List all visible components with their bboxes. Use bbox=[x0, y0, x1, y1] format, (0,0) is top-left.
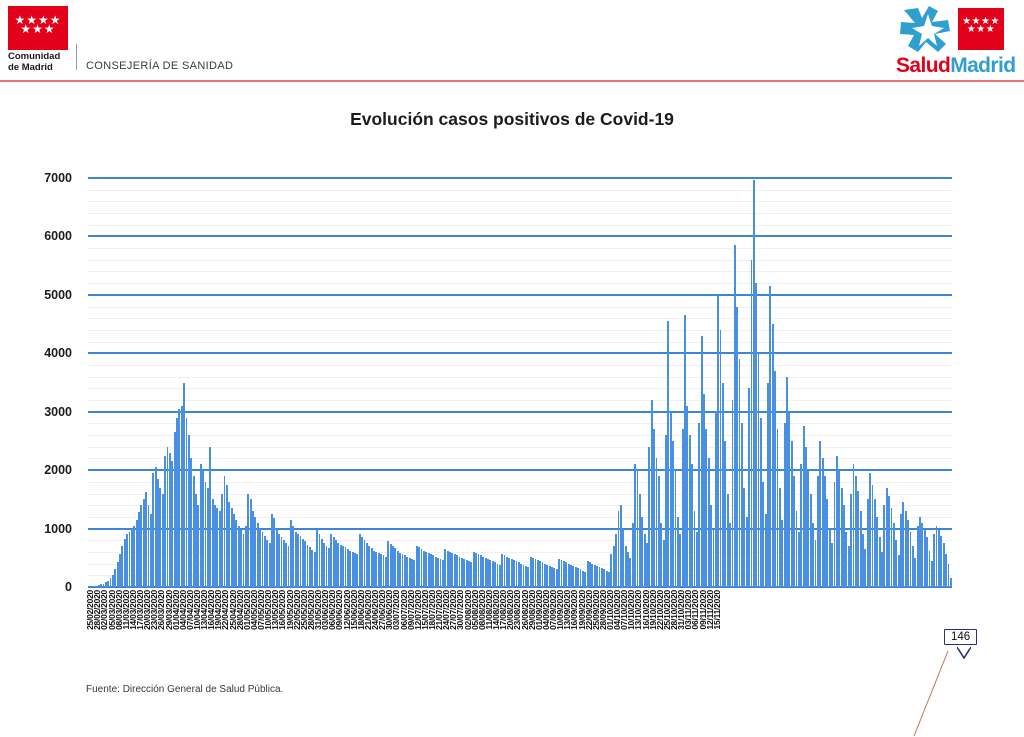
sm-stars-row-bottom: ★★★ bbox=[958, 26, 1004, 34]
plot-area bbox=[88, 178, 952, 587]
y-axis-tick-label: 3000 bbox=[44, 405, 72, 419]
bar bbox=[950, 578, 952, 587]
org-line-2: de Madrid bbox=[8, 62, 70, 73]
header-rule bbox=[0, 80, 1024, 82]
callout-pointer-icon bbox=[957, 647, 971, 659]
page-header: ★★★★ ★★★ Comunidad de Madrid CONSEJERÍA … bbox=[0, 0, 1024, 82]
y-axis-tick-label: 4000 bbox=[44, 346, 72, 360]
x-axis-tick-label: 15/11/2020 bbox=[712, 590, 722, 629]
covid-cases-bar-chart: 01000200030004000500060007000 25/02/2020… bbox=[0, 150, 1024, 670]
y-axis-tick-label: 1000 bbox=[44, 522, 72, 536]
y-axis-labels: 01000200030004000500060007000 bbox=[0, 178, 82, 587]
callout-leader-line bbox=[913, 650, 949, 737]
y-axis-tick-label: 7000 bbox=[44, 171, 72, 185]
salud-madrid-wordmark: SaludMadrid bbox=[896, 54, 1018, 78]
bar-series bbox=[88, 178, 952, 587]
department-label: CONSEJERÍA DE SANIDAD bbox=[86, 60, 233, 72]
brand-madrid-text: Madrid bbox=[950, 54, 1015, 77]
chart-title: Evolución casos positivos de Covid-19 bbox=[0, 109, 1024, 130]
madrid-stars-icon: ★★★★ ★★★ bbox=[8, 16, 68, 34]
x-axis-labels: 25/02/202028/02/202002/03/202005/03/2020… bbox=[88, 590, 952, 662]
salud-madrid-stars-icon: ★★★★ ★★★ bbox=[958, 18, 1004, 34]
y-axis-tick-label: 0 bbox=[65, 580, 72, 594]
callout-value: 146 bbox=[951, 631, 970, 643]
comunidad-de-madrid-logo: ★★★★ ★★★ Comunidad de Madrid bbox=[8, 6, 68, 72]
y-axis-tick-label: 2000 bbox=[44, 463, 72, 477]
brand-salud-text: Salud bbox=[896, 54, 950, 77]
last-value-callout: 146 bbox=[944, 629, 977, 645]
callout-box: 146 bbox=[944, 629, 977, 645]
y-axis-tick-label: 6000 bbox=[44, 229, 72, 243]
salud-star-icon bbox=[898, 4, 954, 54]
header-divider bbox=[76, 44, 77, 70]
org-line-1: Comunidad bbox=[8, 51, 70, 62]
source-footnote: Fuente: Dirección General de Salud Públi… bbox=[86, 684, 283, 695]
comunidad-de-madrid-wordmark: Comunidad de Madrid bbox=[8, 51, 70, 73]
y-axis-tick-label: 5000 bbox=[44, 288, 72, 302]
salud-madrid-logo: ★★★★ ★★★ SaludMadrid bbox=[896, 4, 1018, 76]
